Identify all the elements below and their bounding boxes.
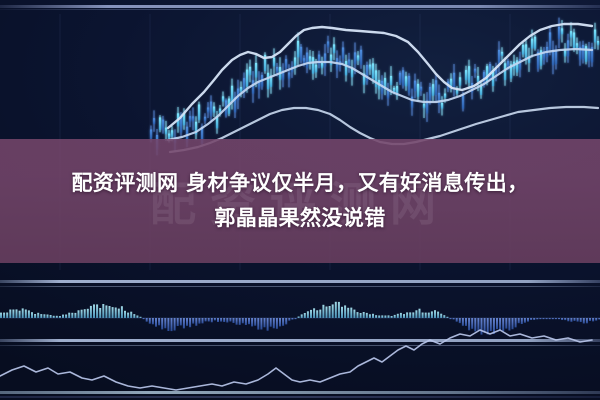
bottom-border-line — [0, 391, 600, 394]
stock-chart-banner-image: 配资评测网 配资评测网 身材争议仅半月，又有好消息传出， 郭晶晶果然没说错 — [0, 0, 600, 400]
indicator-layer — [0, 0, 600, 400]
bottom-border-line-secondary — [0, 396, 600, 398]
indicator-trend-line — [0, 330, 592, 390]
